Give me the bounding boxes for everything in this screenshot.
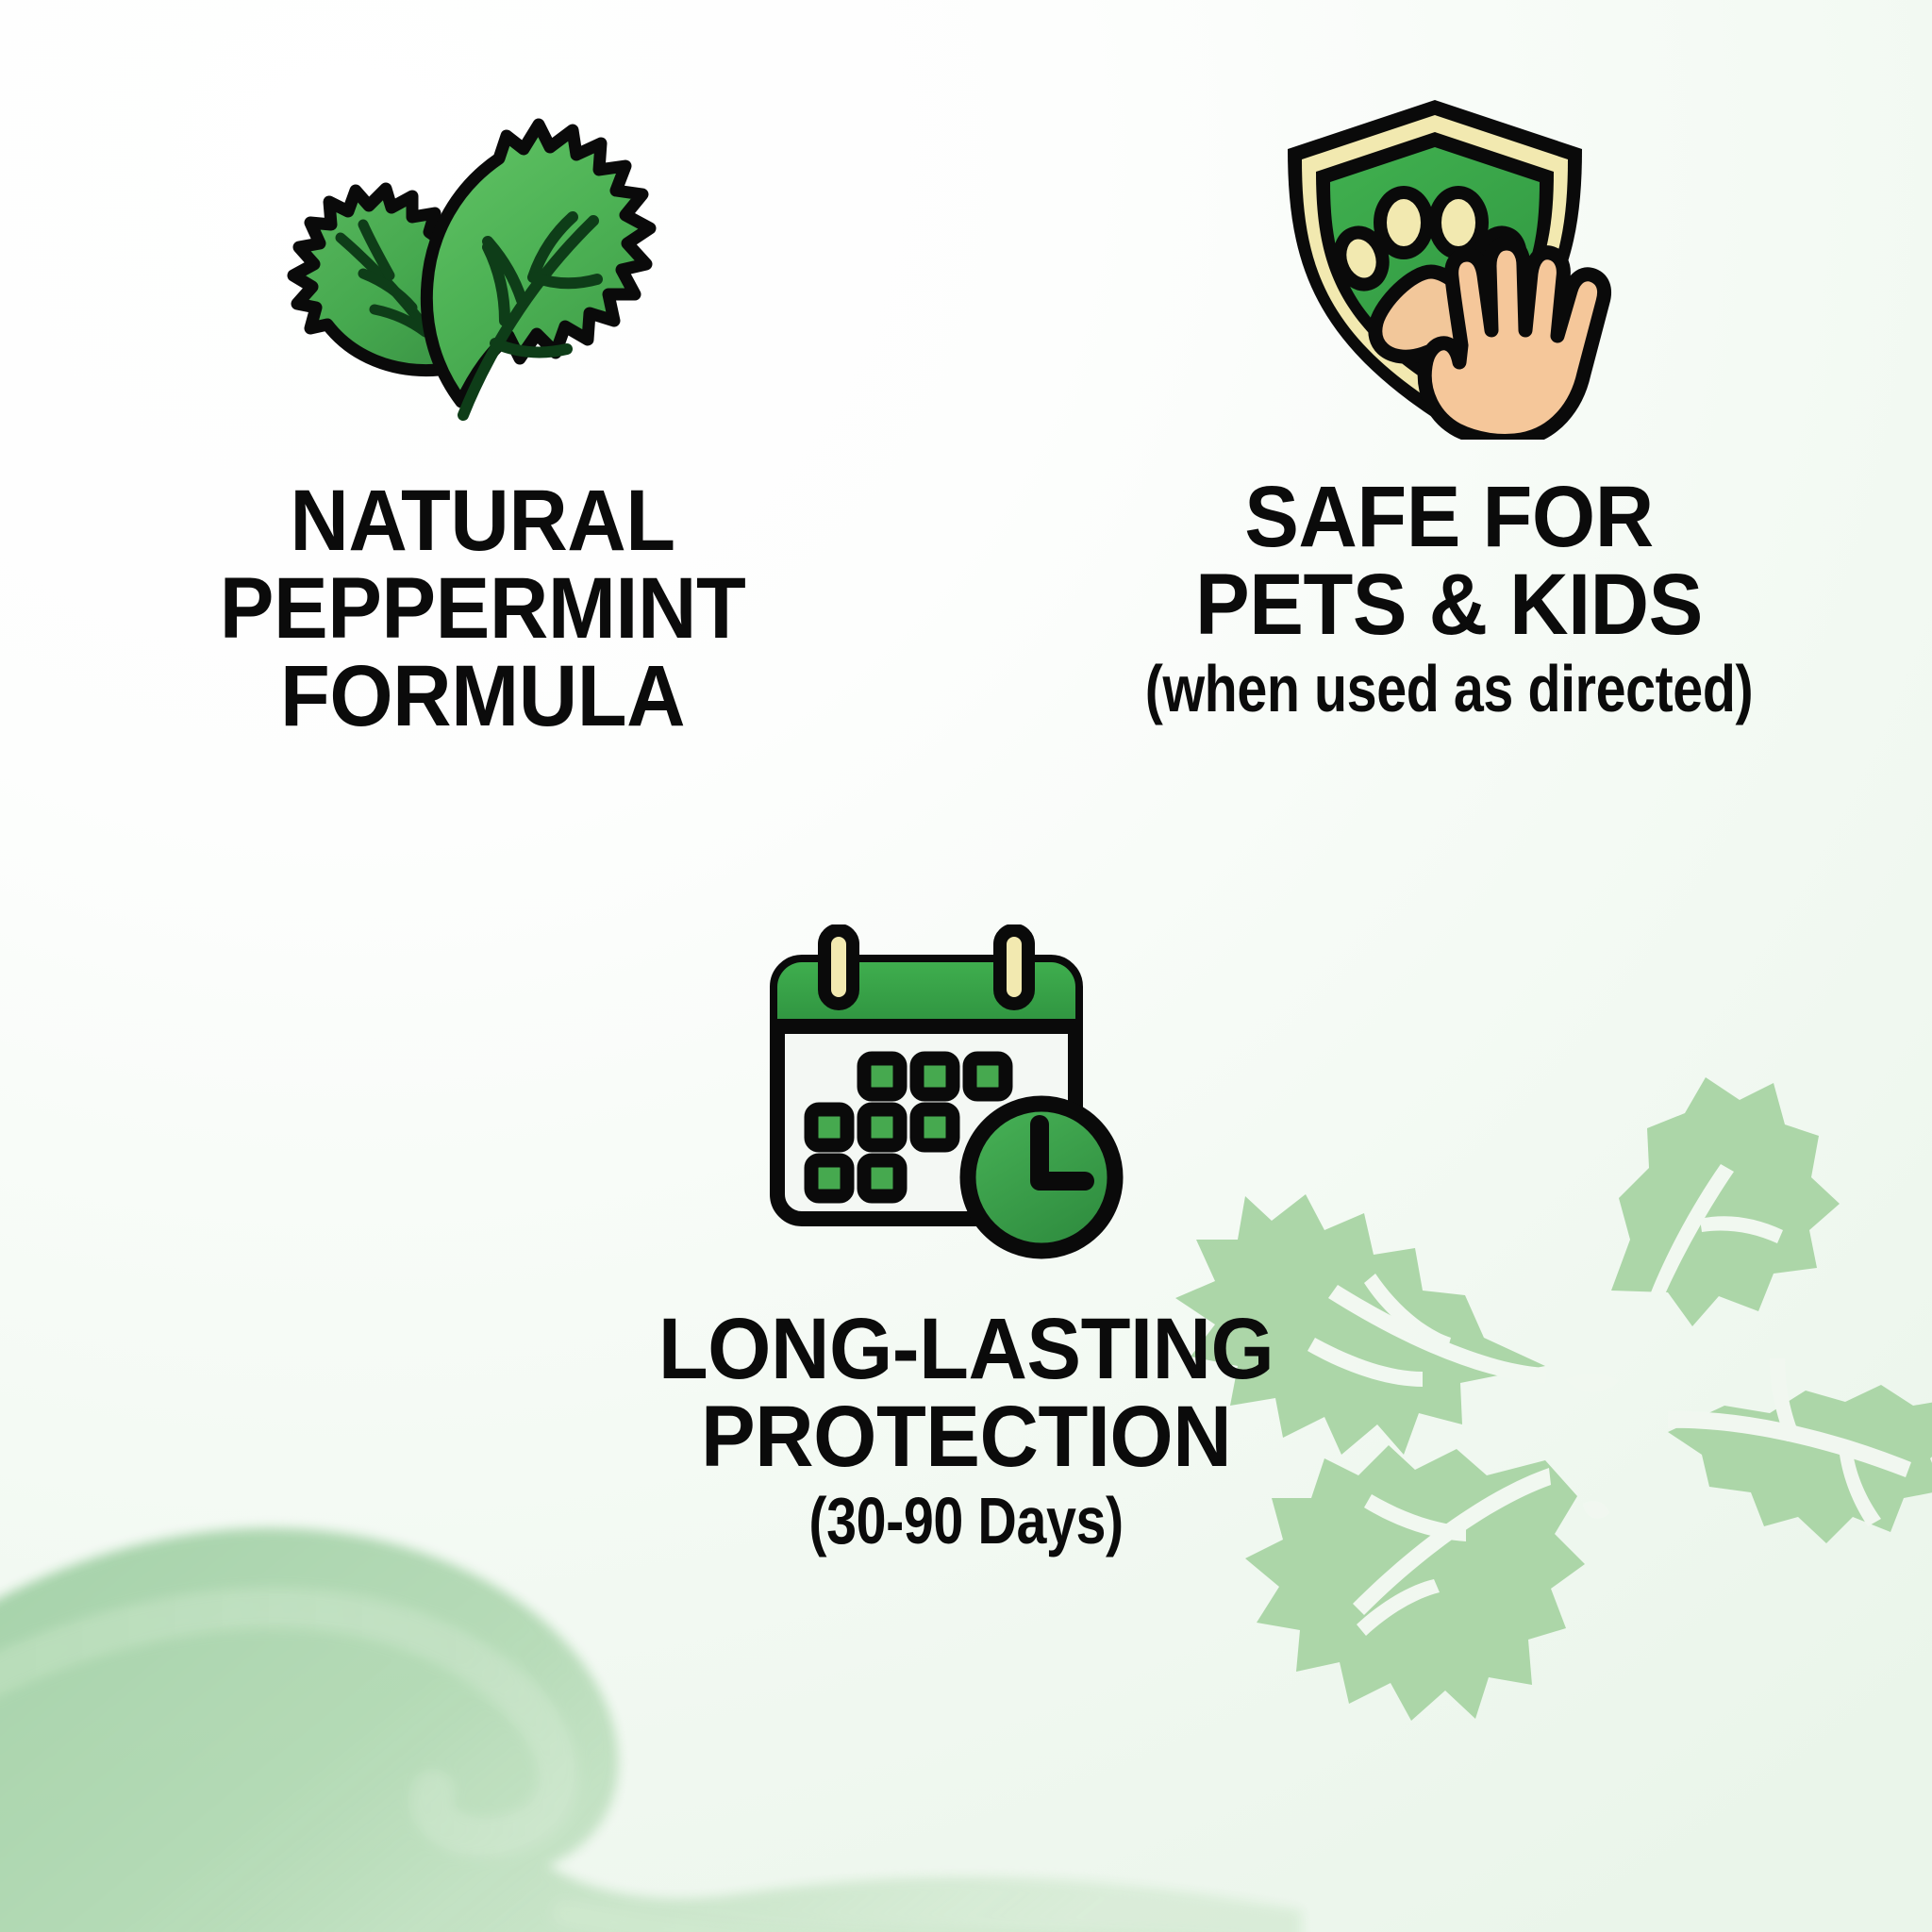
caption-line: FORMULA	[220, 653, 746, 741]
feature-natural-peppermint-formula: NATURAL PEPPERMINT FORMULA	[0, 0, 966, 896]
shield-paw-hand-icon	[1246, 91, 1652, 440]
caption-natural-peppermint-formula: NATURAL PEPPERMINT FORMULA	[203, 477, 762, 741]
caption-safe-for-pets-and-kids: SAFE FOR PETS & KIDS (when used as direc…	[1078, 474, 1820, 724]
feature-safe-for-pets-and-kids: SAFE FOR PETS & KIDS (when used as direc…	[966, 0, 1932, 896]
caption-line: PROTECTION	[658, 1393, 1274, 1481]
feature-poster: NATURAL PEPPERMINT FORMULA	[0, 0, 1932, 1932]
caption-subtitle: (when used as directed)	[1145, 655, 1753, 724]
feature-long-lasting-protection: LONG-LASTING PROTECTION (30-90 Days)	[0, 896, 1932, 1932]
caption-line: PETS & KIDS	[1101, 561, 1798, 649]
caption-subtitle: (30-90 Days)	[697, 1487, 1234, 1556]
feature-grid: NATURAL PEPPERMINT FORMULA	[0, 0, 1932, 1932]
caption-line: NATURAL	[220, 477, 746, 565]
caption-line: PEPPERMINT	[220, 565, 746, 653]
calendar-clock-icon	[768, 924, 1164, 1274]
mint-leaves-icon	[261, 91, 705, 440]
caption-line: LONG-LASTING	[658, 1306, 1274, 1393]
caption-long-lasting-protection: LONG-LASTING PROTECTION (30-90 Days)	[639, 1306, 1293, 1556]
caption-line: SAFE FOR	[1101, 474, 1798, 561]
